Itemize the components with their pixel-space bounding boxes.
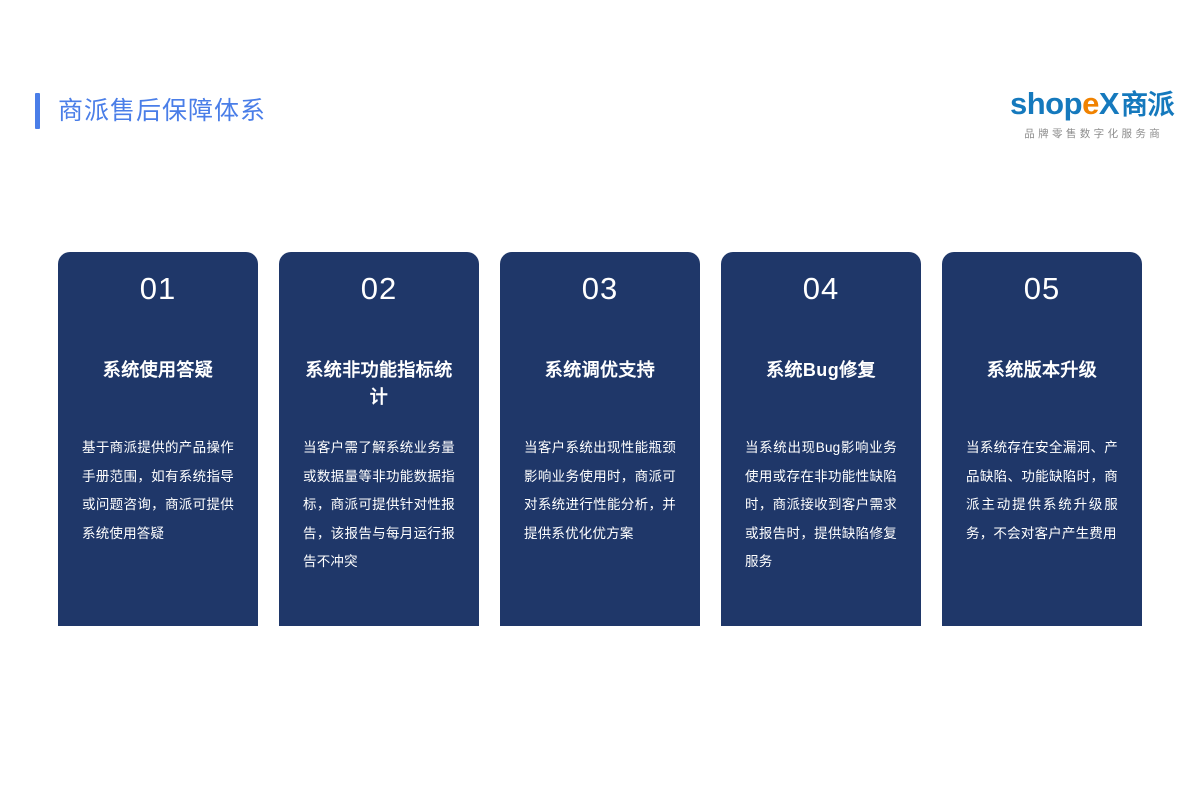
service-card: 02 系统非功能指标统计 当客户需了解系统业务量或数据量等非功能数据指标，商派可… <box>279 252 479 626</box>
card-number: 02 <box>279 269 479 309</box>
shopex-logo: shopeX商派 品牌零售数字化服务商 <box>1010 88 1174 141</box>
logo-wordmark: shopeX商派 <box>1010 88 1174 121</box>
page-title-group: 商派售后保障体系 <box>35 93 266 129</box>
card-body: 当系统出现Bug影响业务使用或存在非功能性缺陷时，商派接收到客户需求或报告时，提… <box>745 434 897 577</box>
card-number: 01 <box>58 269 258 309</box>
card-body: 当系统存在安全漏洞、产品缺陷、功能缺陷时，商派主动提供系统升级服务，不会对客户产… <box>966 434 1118 548</box>
service-card-list: 01 系统使用答疑 基于商派提供的产品操作手册范围，如有系统指导或问题咨询，商派… <box>58 252 1142 626</box>
service-card: 03 系统调优支持 当客户系统出现性能瓶颈影响业务使用时，商派可对系统进行性能分… <box>500 252 700 626</box>
card-title: 系统非功能指标统计 <box>297 357 461 411</box>
service-card: 04 系统Bug修复 当系统出现Bug影响业务使用或存在非功能性缺陷时，商派接收… <box>721 252 921 626</box>
card-body: 基于商派提供的产品操作手册范围，如有系统指导或问题咨询，商派可提供系统使用答疑 <box>82 434 234 548</box>
service-card: 01 系统使用答疑 基于商派提供的产品操作手册范围，如有系统指导或问题咨询，商派… <box>58 252 258 626</box>
card-number: 03 <box>500 269 700 309</box>
card-title: 系统Bug修复 <box>739 357 903 384</box>
card-title: 系统使用答疑 <box>76 357 240 384</box>
card-number: 04 <box>721 269 921 309</box>
card-body: 当客户系统出现性能瓶颈影响业务使用时，商派可对系统进行性能分析，并提供系优化优方… <box>524 434 676 548</box>
logo-text-e: e <box>1082 86 1099 121</box>
page-title: 商派售后保障体系 <box>58 93 266 129</box>
title-accent-bar <box>35 93 40 129</box>
card-title: 系统调优支持 <box>518 357 682 384</box>
card-number: 05 <box>942 269 1142 309</box>
logo-text-shop: shop <box>1010 86 1082 121</box>
service-card: 05 系统版本升级 当系统存在安全漏洞、产品缺陷、功能缺陷时，商派主动提供系统升… <box>942 252 1142 626</box>
logo-text-x: X <box>1099 86 1119 121</box>
card-body: 当客户需了解系统业务量或数据量等非功能数据指标，商派可提供针对性报告，该报告与每… <box>303 434 455 577</box>
page-header: 商派售后保障体系 shopeX商派 品牌零售数字化服务商 <box>0 0 1200 170</box>
logo-text-chinese: 商派 <box>1121 90 1174 120</box>
card-title: 系统版本升级 <box>960 357 1124 384</box>
logo-tagline: 品牌零售数字化服务商 <box>1010 126 1174 141</box>
